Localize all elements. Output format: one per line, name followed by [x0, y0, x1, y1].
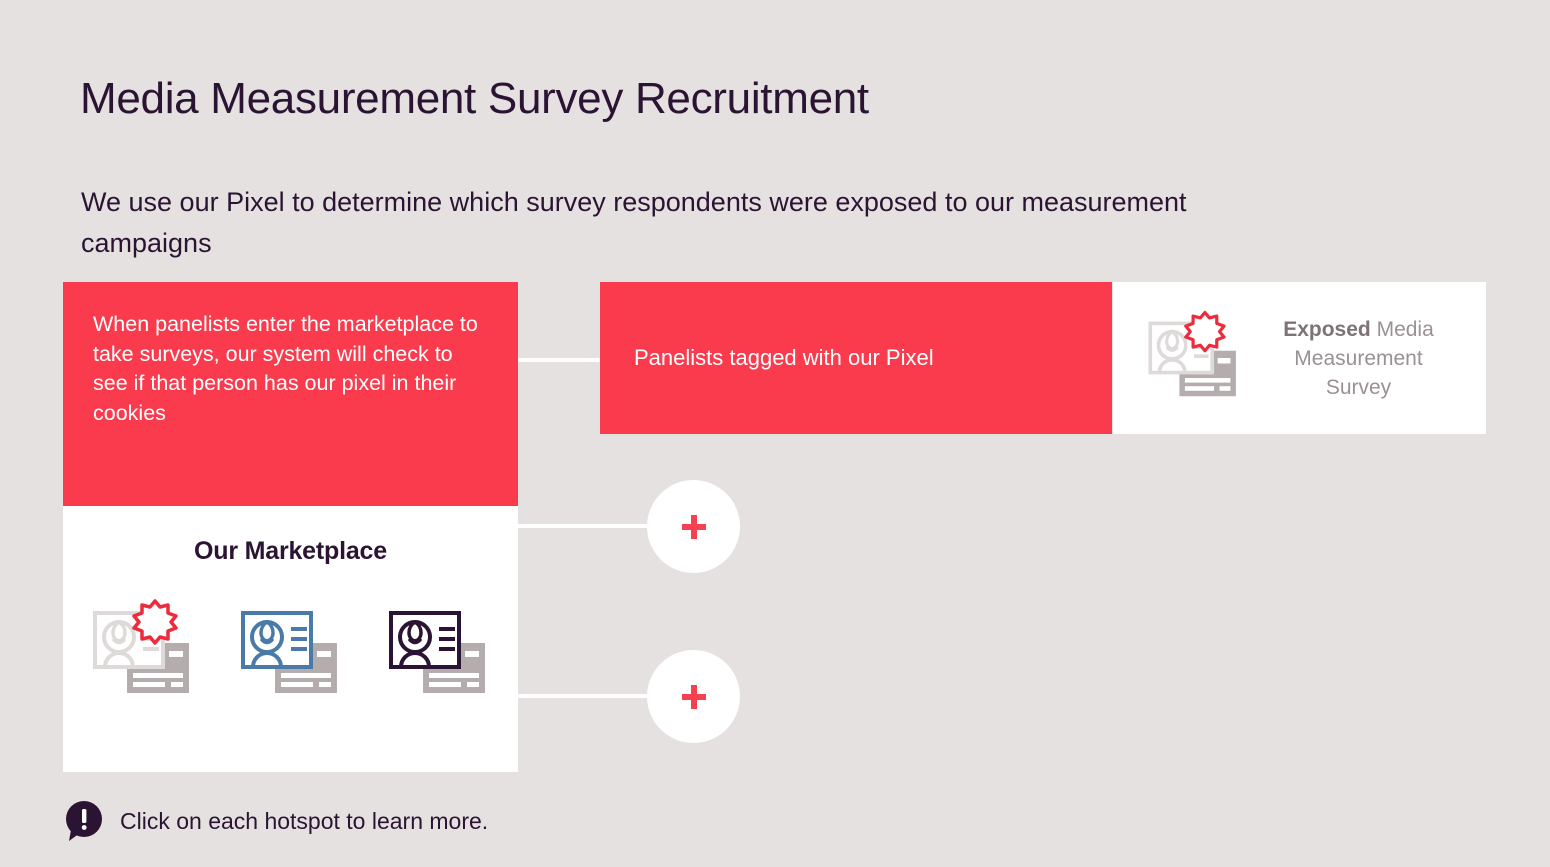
left-red-callout-text: When panelists enter the marketplace to … [93, 310, 488, 428]
hotspot-2-button[interactable] [647, 650, 740, 743]
hotspot-1-button[interactable] [647, 480, 740, 573]
middle-red-callout-box: Panelists tagged with our Pixel [600, 282, 1112, 434]
left-red-callout-box: When panelists enter the marketplace to … [63, 282, 518, 506]
exposed-panelist-card-icon [1143, 307, 1245, 409]
footer-note-text: Click on each hotspot to learn more. [120, 808, 488, 835]
plus-icon [681, 684, 707, 710]
middle-red-callout-text: Panelists tagged with our Pixel [634, 345, 934, 371]
connector-line-top [518, 358, 604, 362]
connector-line-bottom [518, 694, 658, 698]
panelist-card-blue-icon [235, 595, 347, 707]
exposed-survey-label: Exposed Media Measurement Survey [1261, 315, 1457, 402]
diagram-container: When panelists enter the marketplace to … [0, 0, 1550, 867]
exposed-survey-panel: Exposed Media Measurement Survey [1113, 282, 1486, 434]
footer-note: Click on each hotspot to learn more. [63, 800, 488, 842]
exclamation-bubble-icon [63, 800, 105, 842]
panelist-card-faded-icon [87, 595, 199, 707]
marketplace-icon-row [63, 595, 518, 707]
exposed-label-strong: Exposed [1283, 318, 1371, 341]
connector-line-middle [518, 524, 658, 528]
panelist-card-dark-icon [383, 595, 495, 707]
plus-icon [681, 514, 707, 540]
marketplace-title: Our Marketplace [63, 537, 518, 566]
marketplace-panel: Our Marketplace [63, 506, 518, 772]
